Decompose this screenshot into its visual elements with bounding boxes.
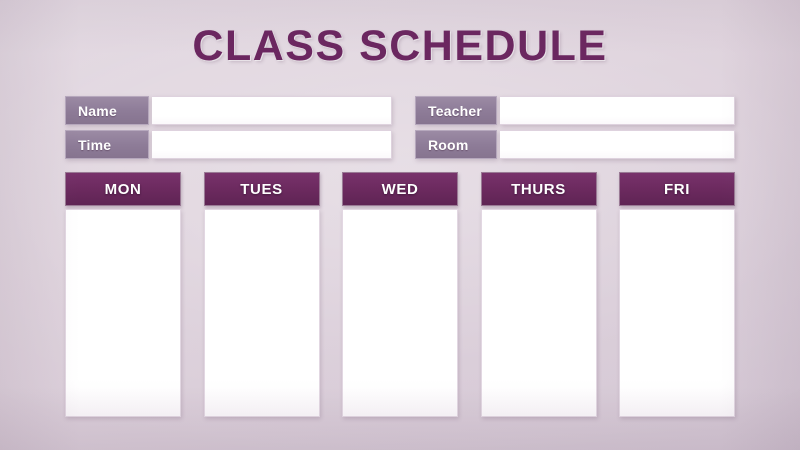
- teacher-input[interactable]: [500, 96, 735, 125]
- day-header-tues: TUES: [204, 172, 320, 206]
- schedule-column-fri: FRI: [619, 172, 735, 417]
- schedule-column-wed: WED: [342, 172, 458, 417]
- day-body-tues[interactable]: [204, 209, 320, 417]
- schedule-column-mon: MON: [65, 172, 181, 417]
- name-input[interactable]: [152, 96, 392, 125]
- page-title: CLASS SCHEDULE: [0, 22, 800, 71]
- field-label-teacher: Teacher: [415, 96, 497, 125]
- day-body-fri[interactable]: [619, 209, 735, 417]
- field-label-room: Room: [415, 130, 497, 159]
- day-header-fri: FRI: [619, 172, 735, 206]
- day-header-thurs: THURS: [481, 172, 597, 206]
- day-body-wed[interactable]: [342, 209, 458, 417]
- class-schedule-page: CLASS SCHEDULE Name Time Teacher Room MO…: [0, 0, 800, 450]
- field-row-room: Room: [415, 130, 735, 159]
- time-input[interactable]: [152, 130, 392, 159]
- field-label-name: Name: [65, 96, 149, 125]
- field-row-name: Name: [65, 96, 392, 125]
- day-header-wed: WED: [342, 172, 458, 206]
- field-label-time: Time: [65, 130, 149, 159]
- day-header-mon: MON: [65, 172, 181, 206]
- day-body-mon[interactable]: [65, 209, 181, 417]
- field-row-time: Time: [65, 130, 392, 159]
- field-row-teacher: Teacher: [415, 96, 735, 125]
- day-body-thurs[interactable]: [481, 209, 597, 417]
- schedule-column-thurs: THURS: [481, 172, 597, 417]
- schedule-column-tues: TUES: [204, 172, 320, 417]
- room-input[interactable]: [500, 130, 735, 159]
- schedule-columns: MON TUES WED THURS FRI: [65, 172, 735, 417]
